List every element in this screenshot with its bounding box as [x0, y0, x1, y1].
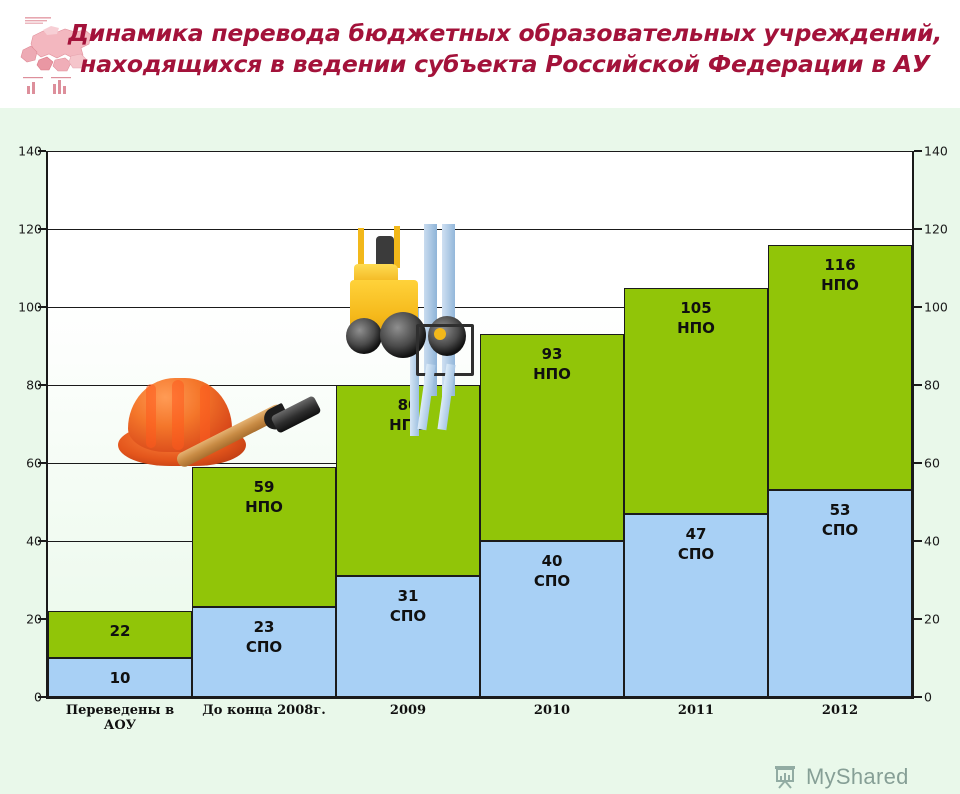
bar-value-label: 31: [398, 587, 419, 606]
y-axis-tick-label-right: 100: [924, 300, 960, 315]
y-axis-tick-mark-right: [914, 540, 922, 542]
presentation-board-icon: [772, 764, 800, 790]
bar-segment-spo[interactable]: 47СПО: [624, 514, 768, 697]
title-line-1: Динамика перевода бюджетных образователь…: [60, 18, 950, 49]
header-banner: Динамика перевода бюджетных образователь…: [0, 0, 960, 108]
bar-series-label: НПО: [533, 364, 571, 385]
title-line-2: находящихся в ведении субъекта Российско…: [60, 49, 950, 80]
y-axis-tick-mark-right: [914, 696, 922, 698]
y-axis-tick-mark-right: [914, 228, 922, 230]
bar-value-label: 22: [110, 622, 131, 641]
y-axis-tick-label-left: 60: [2, 456, 42, 471]
y-axis-tick-label-right: 0: [924, 690, 960, 705]
x-axis-category-label: До конца 2008г.: [192, 703, 336, 718]
y-axis-tick-mark-right: [914, 462, 922, 464]
bar-segment-npo[interactable]: 80НПО: [336, 385, 480, 576]
y-axis-tick-label-left: 80: [2, 378, 42, 393]
bar-series-label: СПО: [534, 571, 570, 592]
y-axis-tick-label-right: 40: [924, 534, 960, 549]
bar-series-label: НПО: [677, 318, 715, 339]
bar-segment-spo[interactable]: 40СПО: [480, 541, 624, 697]
bar-column[interactable]: 40СПО93НПО: [480, 151, 624, 697]
bar-series-label: СПО: [246, 637, 282, 658]
x-axis-category-label: 2012: [768, 703, 912, 718]
x-axis-category-label: 2010: [480, 703, 624, 718]
y-axis-tick-label-right: 120: [924, 222, 960, 237]
bar-series-label: НПО: [389, 415, 427, 436]
x-axis-category-label: Переведены в АОУ: [48, 703, 192, 733]
y-axis-tick-mark-right: [914, 306, 922, 308]
bar-series-label: НПО: [245, 497, 283, 518]
y-axis-tick-label-left: 100: [2, 300, 42, 315]
y-axis-tick-label-left: 0: [2, 690, 42, 705]
bar-segment-spo[interactable]: 53СПО: [768, 490, 912, 697]
bar-series-label: СПО: [822, 520, 858, 541]
y-axis-right-line: [912, 151, 914, 699]
y-axis-tick-mark-right: [914, 150, 922, 152]
bar-column[interactable]: 31СПО80НПО: [336, 151, 480, 697]
bars-group: 102223СПО59НПО31СПО80НПО40СПО93НПО47СПО1…: [48, 151, 912, 697]
myshared-watermark: MyShared: [772, 760, 909, 794]
bar-segment-npo[interactable]: 59НПО: [192, 467, 336, 607]
bar-column[interactable]: 53СПО116НПО: [768, 151, 912, 697]
y-axis-tick-label-left: 20: [2, 612, 42, 627]
bar-column[interactable]: 1022: [48, 151, 192, 697]
bar-value-label: 59: [254, 478, 275, 497]
page-title: Динамика перевода бюджетных образователь…: [60, 18, 950, 80]
watermark-text: MyShared: [806, 764, 909, 790]
x-axis-category-label: 2009: [336, 703, 480, 718]
bar-segment-spo[interactable]: 10: [48, 658, 192, 697]
bar-segment-npo[interactable]: 22: [48, 611, 192, 658]
bar-value-label: 80: [398, 396, 419, 415]
y-axis-tick-mark-right: [914, 618, 922, 620]
bar-value-label: 10: [110, 669, 131, 688]
bar-segment-npo[interactable]: 93НПО: [480, 334, 624, 541]
y-axis-tick-label-left: 40: [2, 534, 42, 549]
y-axis-tick-label-left: 120: [2, 222, 42, 237]
y-axis-tick-label-right: 60: [924, 456, 960, 471]
bar-segment-npo[interactable]: 116НПО: [768, 245, 912, 491]
y-axis-tick-label-right: 20: [924, 612, 960, 627]
bar-segment-spo[interactable]: 31СПО: [336, 576, 480, 697]
chart-area: 002020404060608080100100120120140140 102…: [0, 108, 960, 720]
y-axis-tick-mark-right: [914, 384, 922, 386]
x-axis-category-label: 2011: [624, 703, 768, 718]
bar-segment-spo[interactable]: 23СПО: [192, 607, 336, 697]
bar-value-label: 53: [830, 501, 851, 520]
x-axis-category-labels: Переведены в АОУДо конца 2008г.200920102…: [48, 703, 912, 727]
bar-column[interactable]: 47СПО105НПО: [624, 151, 768, 697]
bar-series-label: НПО: [821, 275, 859, 296]
bar-value-label: 93: [542, 345, 563, 364]
bar-value-label: 23: [254, 618, 275, 637]
bar-value-label: 116: [824, 256, 855, 275]
y-axis-tick-label-right: 80: [924, 378, 960, 393]
bar-segment-npo[interactable]: 105НПО: [624, 288, 768, 514]
bar-series-label: СПО: [390, 606, 426, 627]
y-axis-tick-label-right: 140: [924, 144, 960, 159]
bar-column[interactable]: 23СПО59НПО: [192, 151, 336, 697]
bar-value-label: 40: [542, 552, 563, 571]
bar-value-label: 47: [686, 525, 707, 544]
bar-series-label: СПО: [678, 544, 714, 565]
y-axis-tick-label-left: 140: [2, 144, 42, 159]
bar-value-label: 105: [680, 299, 711, 318]
